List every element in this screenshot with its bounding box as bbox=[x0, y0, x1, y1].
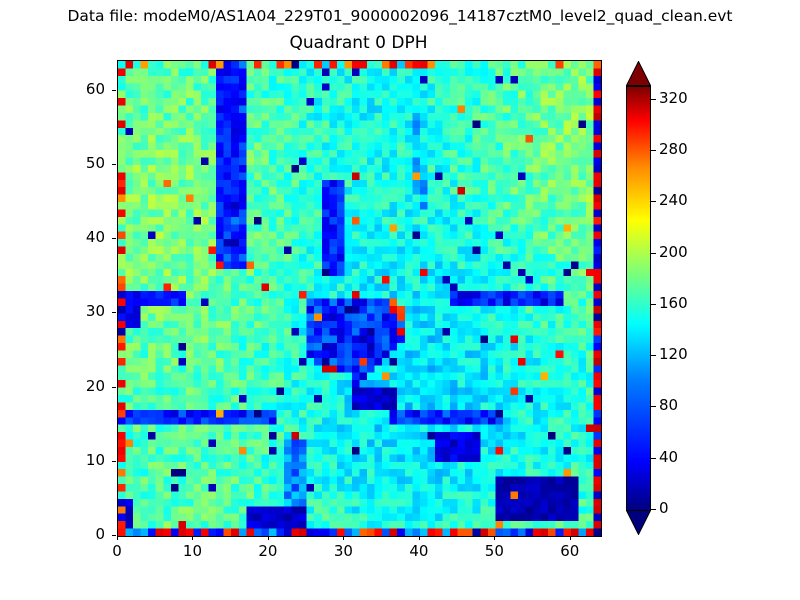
y-tick-label: 30 bbox=[55, 303, 105, 320]
x-tick-label: 40 bbox=[394, 543, 444, 560]
colorbar-extend-bottom-icon bbox=[626, 510, 651, 535]
y-tick-mark bbox=[112, 238, 116, 239]
colorbar-tick-label: 0 bbox=[659, 500, 669, 517]
x-tick-label: 30 bbox=[318, 543, 368, 560]
x-tick-label: 50 bbox=[469, 543, 519, 560]
x-tick-mark bbox=[268, 536, 269, 540]
colorbar[interactable]: 04080120160200240280320 bbox=[626, 60, 696, 535]
x-tick-label: 10 bbox=[167, 543, 217, 560]
y-tick-label: 50 bbox=[55, 155, 105, 172]
y-tick-label: 20 bbox=[55, 378, 105, 395]
x-tick-mark bbox=[192, 536, 193, 540]
heatmap-image[interactable] bbox=[118, 61, 601, 536]
x-tick-label: 20 bbox=[243, 543, 293, 560]
colorbar-tick-mark bbox=[651, 201, 656, 202]
colorbar-tick-mark bbox=[651, 150, 656, 151]
y-tick-mark bbox=[112, 535, 116, 536]
colorbar-tick-label: 280 bbox=[659, 141, 688, 158]
colorbar-tick-mark bbox=[651, 458, 656, 459]
y-tick-label: 40 bbox=[55, 229, 105, 246]
y-tick-mark bbox=[112, 461, 116, 462]
x-tick-label: 0 bbox=[92, 543, 142, 560]
colorbar-tick-mark bbox=[651, 304, 656, 305]
y-tick-mark bbox=[112, 164, 116, 165]
colorbar-gradient[interactable] bbox=[626, 86, 651, 511]
colorbar-tick-label: 240 bbox=[659, 192, 688, 209]
colorbar-tick-label: 320 bbox=[659, 90, 688, 107]
heatmap-axes[interactable] bbox=[117, 60, 602, 537]
colorbar-tick-mark bbox=[651, 253, 656, 254]
x-tick-mark bbox=[494, 536, 495, 540]
figure-canvas: Data file: modeM0/AS1A04_229T01_90000020… bbox=[0, 0, 800, 600]
x-tick-label: 60 bbox=[545, 543, 595, 560]
x-tick-mark bbox=[343, 536, 344, 540]
y-tick-mark bbox=[112, 312, 116, 313]
colorbar-extend-top-icon bbox=[626, 61, 651, 86]
colorbar-tick-label: 160 bbox=[659, 295, 688, 312]
colorbar-tick-mark bbox=[651, 406, 656, 407]
y-tick-mark bbox=[112, 90, 116, 91]
x-tick-mark bbox=[117, 536, 118, 540]
x-tick-mark bbox=[570, 536, 571, 540]
colorbar-tick-label: 80 bbox=[659, 397, 678, 414]
colorbar-tick-mark bbox=[651, 99, 656, 100]
colorbar-tick-label: 200 bbox=[659, 244, 688, 261]
colorbar-tick-mark bbox=[651, 355, 656, 356]
y-tick-label: 60 bbox=[55, 81, 105, 98]
colorbar-tick-label: 40 bbox=[659, 449, 678, 466]
x-tick-mark bbox=[419, 536, 420, 540]
colorbar-tick-mark bbox=[651, 509, 656, 510]
y-tick-label: 0 bbox=[55, 526, 105, 543]
y-tick-label: 10 bbox=[55, 452, 105, 469]
data-file-suptitle: Data file: modeM0/AS1A04_229T01_90000020… bbox=[0, 6, 800, 26]
y-tick-mark bbox=[112, 387, 116, 388]
page-title: Quadrant 0 DPH bbox=[117, 32, 600, 54]
colorbar-tick-label: 120 bbox=[659, 346, 688, 363]
